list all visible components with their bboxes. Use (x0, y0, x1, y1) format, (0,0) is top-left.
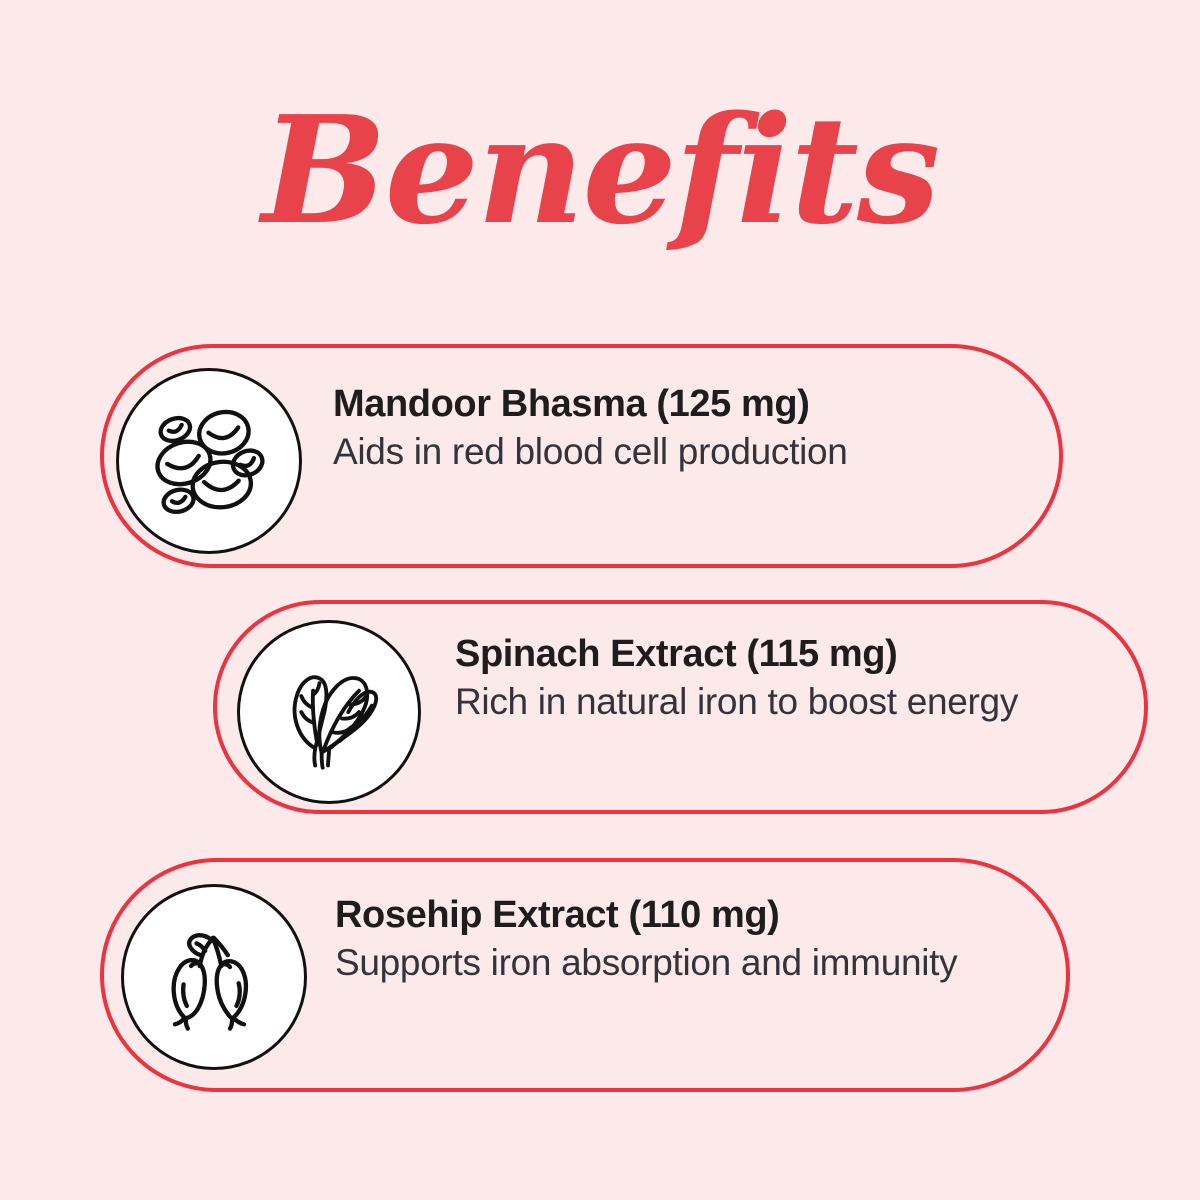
spinach-leaves-icon (237, 620, 421, 804)
page-title-wrap: Benefits (0, 96, 1200, 244)
benefit-description: Supports iron absorption and immunity (335, 940, 1035, 985)
benefit-text-2: Spinach Extract (115 mg) Rich in natural… (455, 632, 1145, 724)
benefit-title: Mandoor Bhasma (125 mg) (333, 382, 1033, 427)
benefit-title: Rosehip Extract (110 mg) (335, 893, 1035, 938)
benefit-title: Spinach Extract (115 mg) (455, 632, 1145, 677)
benefit-description: Aids in red blood cell production (333, 429, 1033, 474)
benefit-text-1: Mandoor Bhasma (125 mg) Aids in red bloo… (333, 382, 1033, 474)
benefit-text-3: Rosehip Extract (110 mg) Supports iron a… (335, 893, 1035, 985)
page-title: Benefits (262, 96, 939, 244)
blood-cells-icon (116, 368, 302, 554)
benefits-infographic: Benefits Mandoor Bhasma (125 mg) Ai (0, 0, 1200, 1200)
rosehip-fruit-icon (121, 884, 307, 1070)
benefit-description: Rich in natural iron to boost energy (455, 679, 1145, 724)
